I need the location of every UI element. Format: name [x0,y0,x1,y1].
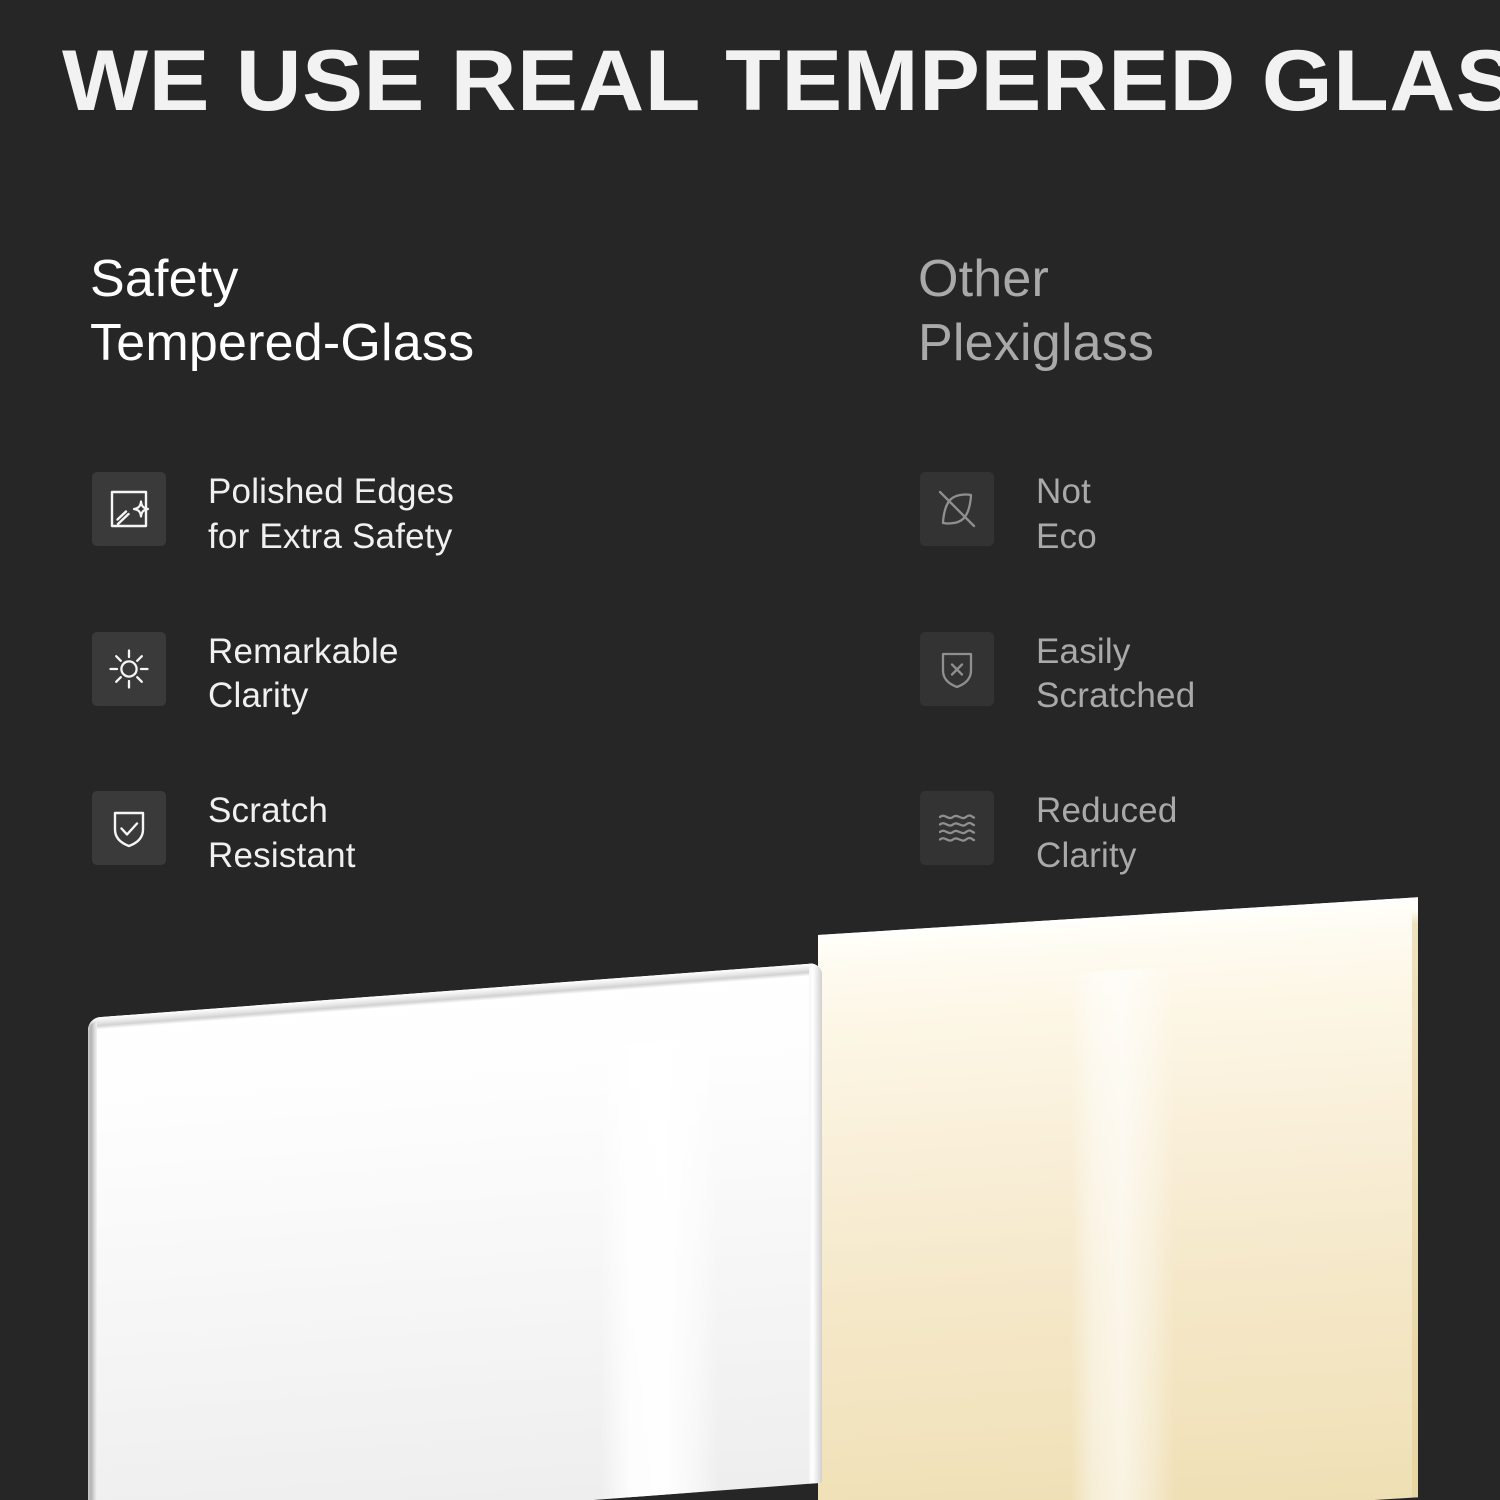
plexiglass-top-edge [818,897,1418,961]
feature-label-line-1: Scratch [208,789,356,834]
feature-label-easily-scratched: Easily Scratched [1036,630,1195,720]
feature-label-not-eco: Not Eco [1036,470,1097,560]
feature-label-line-2: Scratched [1036,674,1195,719]
feature-item-not-eco: Not Eco [920,470,1480,560]
glass-polished-top-edge [88,963,822,1030]
shield-x-icon [920,632,994,706]
feature-label-line-2: Clarity [208,674,399,719]
glass-polished-right-edge [809,963,822,1484]
feature-label-line-1: Remarkable [208,630,399,675]
page-title: WE USE REAL TEMPERED GLASS [62,38,1500,124]
feature-label-line-1: Easily [1036,630,1195,675]
feature-label-line-1: Reduced [1036,789,1178,834]
glass-reflection-band [600,1037,718,1500]
comparison-column-plexiglass: Other Plexiglass Not Eco [918,248,1478,376]
polished-glass-sparkle-icon [92,472,166,546]
glass-polished-left-edge [88,1021,97,1500]
sun-brightness-icon [92,632,166,706]
product-comparison-image [0,860,1500,1500]
feature-label-line-2: for Extra Safety [208,515,454,560]
tempered-glass-panel [88,963,822,1500]
feature-list-plexiglass: Not Eco Easily Scratched [920,470,1480,879]
feature-item-polished-edges: Polished Edges for Extra Safety [92,470,832,560]
column-heading-tempered-glass: Safety Tempered-Glass [90,248,830,376]
wavy-lines-blur-icon [920,791,994,865]
shield-check-icon [92,791,166,865]
column-heading-line-1: Other [918,248,1478,312]
feature-label-line-1: Not [1036,470,1097,515]
column-heading-line-1: Safety [90,248,830,312]
column-heading-plexiglass: Other Plexiglass [918,248,1478,376]
infographic-page: WE USE REAL TEMPERED GLASS Safety Temper… [0,0,1500,1500]
column-heading-line-2: Plexiglass [918,312,1478,376]
comparison-column-tempered-glass: Safety Tempered-Glass Polished Edges for… [90,248,830,376]
feature-label-polished-edges: Polished Edges for Extra Safety [208,470,454,560]
feature-label-remarkable-clarity: Remarkable Clarity [208,630,399,720]
feature-list-tempered-glass: Polished Edges for Extra Safety [92,470,832,879]
feature-item-remarkable-clarity: Remarkable Clarity [92,630,832,720]
plexiglass-reflection-band [1070,967,1175,1500]
feature-label-line-2: Eco [1036,515,1097,560]
plexiglass-panel [818,897,1418,1500]
feature-label-line-1: Polished Edges [208,470,454,515]
leaf-crossed-out-icon [920,472,994,546]
feature-item-easily-scratched: Easily Scratched [920,630,1480,720]
column-heading-line-2: Tempered-Glass [90,312,830,376]
